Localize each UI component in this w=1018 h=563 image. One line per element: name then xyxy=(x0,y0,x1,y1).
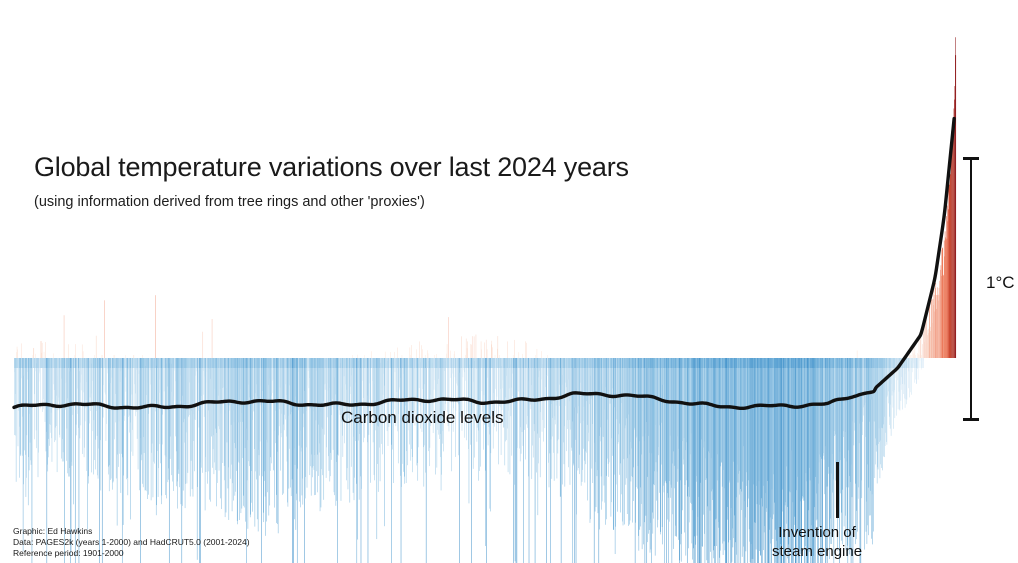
steam-engine-annotation: Invention of steam engine xyxy=(772,523,862,561)
page-subtitle: (using information derived from tree rin… xyxy=(34,194,425,210)
credit-reference-period: Reference period: 1901-2000 xyxy=(13,548,250,559)
credit-data: Data: PAGES2k (years 1-2000) and HadCRUT… xyxy=(13,537,250,548)
stripes-canvas xyxy=(0,0,1018,563)
scale-bar-line xyxy=(970,158,972,420)
steam-engine-leader-line xyxy=(836,462,839,518)
temperature-stripes xyxy=(14,37,956,563)
credit-graphic: Graphic: Ed Hawkins xyxy=(13,526,250,537)
scale-bar-label: 1°C xyxy=(986,273,1015,293)
co2-annotation-label: Carbon dioxide levels xyxy=(341,408,504,428)
steam-engine-line-1: Invention of xyxy=(772,523,862,542)
scale-bar-cap-bottom xyxy=(963,418,979,421)
scale-bar-cap-top xyxy=(963,157,979,160)
credits-block: Graphic: Ed Hawkins Data: PAGES2k (years… xyxy=(13,526,250,560)
page-title: Global temperature variations over last … xyxy=(34,152,629,183)
steam-engine-line-2: steam engine xyxy=(772,542,862,561)
scale-bar: 1°C xyxy=(962,155,1016,425)
climate-stripes-figure: Global temperature variations over last … xyxy=(0,0,1018,563)
